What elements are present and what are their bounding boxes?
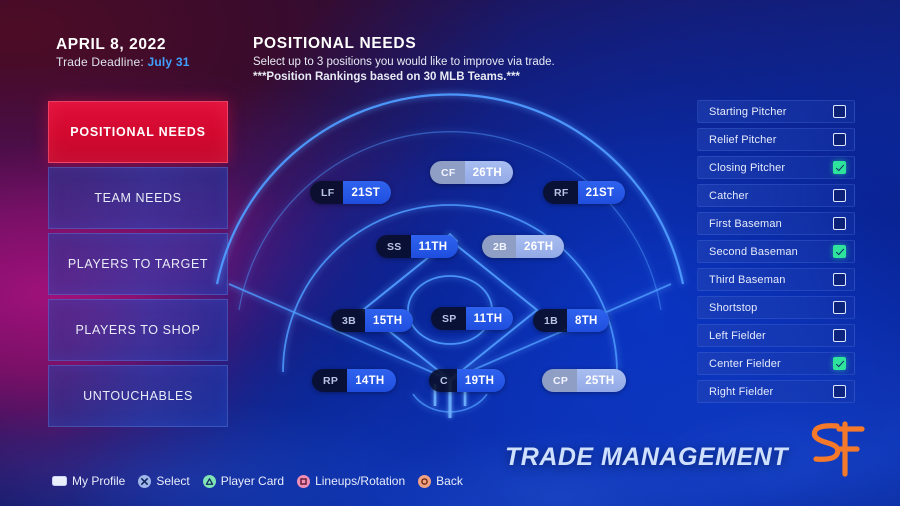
trade-management-screen: APRIL 8, 2022 Trade Deadline: July 31 PO… (0, 0, 900, 506)
vignette-overlay (0, 0, 900, 506)
